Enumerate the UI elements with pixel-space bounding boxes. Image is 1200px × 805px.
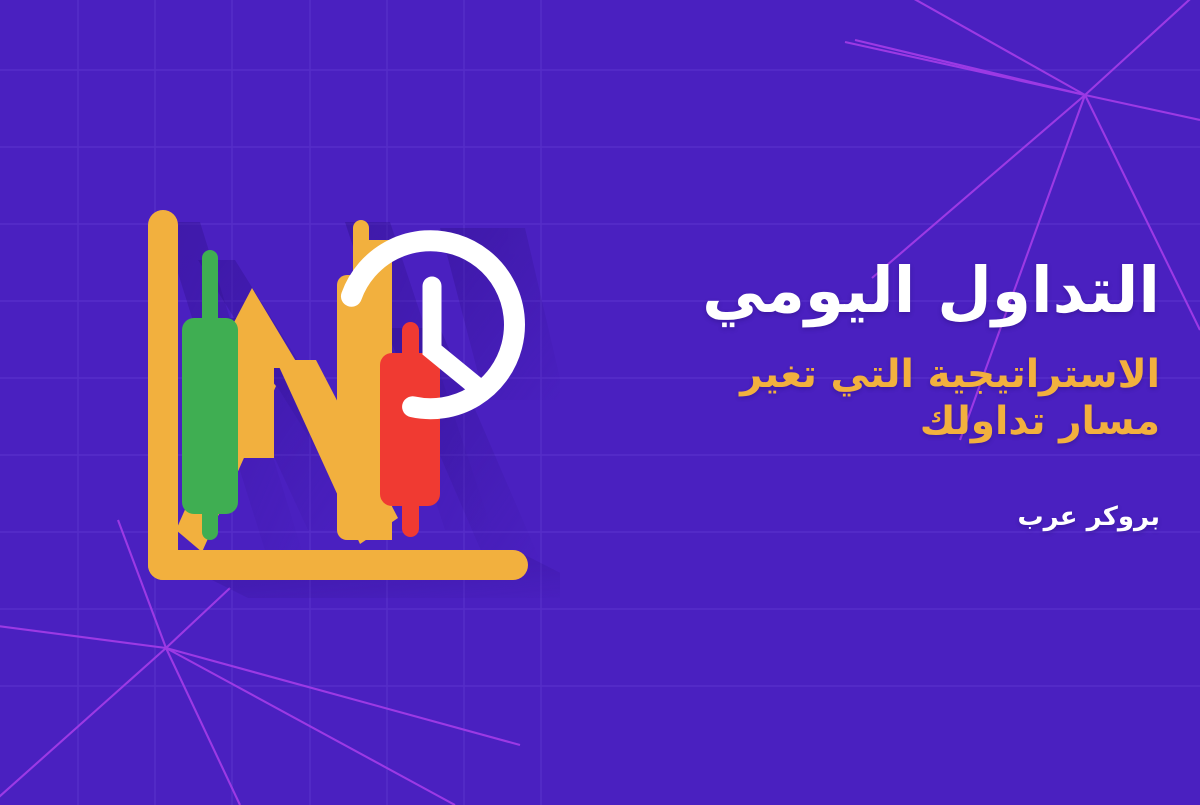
headline: التداول اليومي	[620, 258, 1160, 325]
brand-byline: بروكر عرب	[620, 502, 1160, 532]
trading-chart-clock-logo	[140, 200, 560, 600]
subtitle-line-2: مسار تداولك	[620, 398, 1160, 446]
banner-canvas: التداول اليومي الاستراتيجية التي تغير مس…	[0, 0, 1200, 805]
text-block: التداول اليومي الاستراتيجية التي تغير مس…	[620, 258, 1160, 532]
subtitle-line-1: الاستراتيجية التي تغير	[620, 351, 1160, 399]
